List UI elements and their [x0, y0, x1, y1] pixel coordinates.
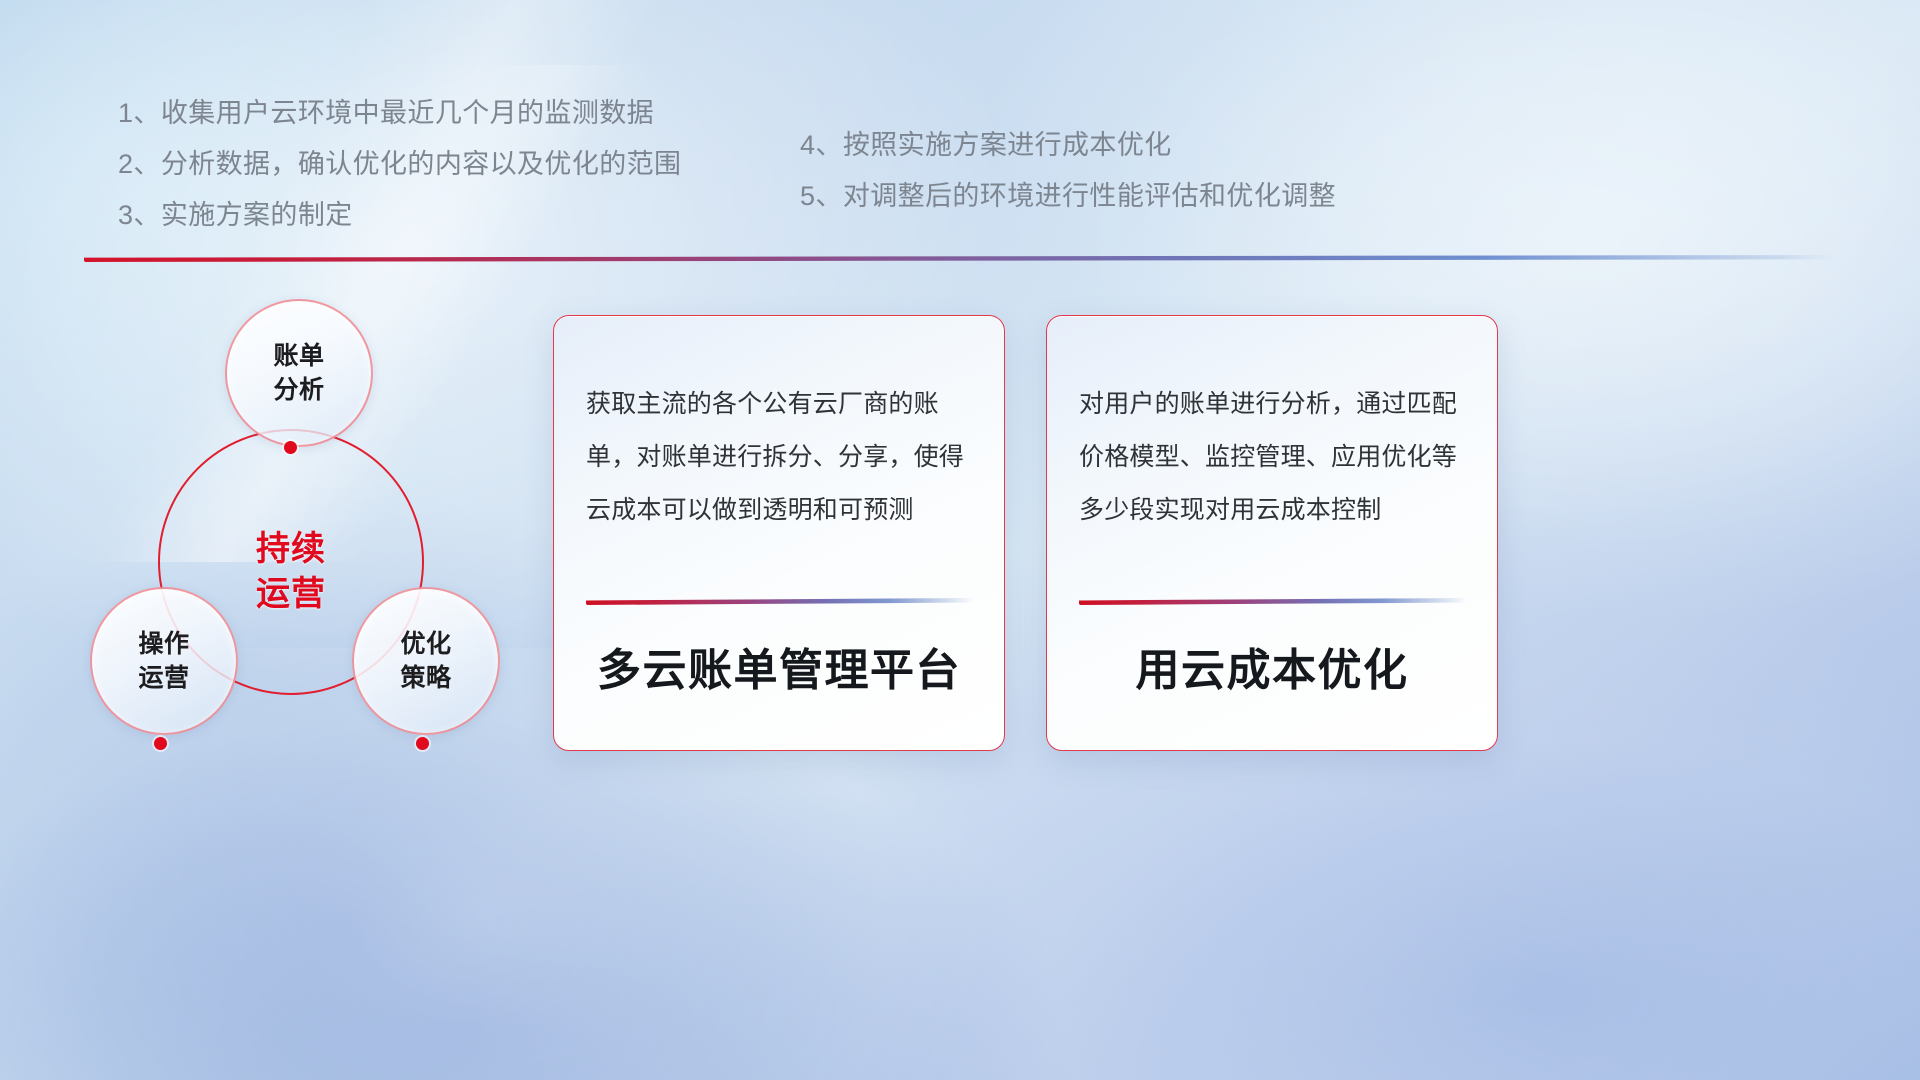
step-item-3: 3、实施方案的制定	[118, 190, 681, 241]
venn-bubble-right-line-1: 优化	[354, 627, 498, 661]
venn-bubble-right-line-2: 策略	[354, 661, 498, 695]
venn-node-left-icon	[154, 737, 167, 750]
card-1-divider	[586, 598, 974, 605]
venn-diagram: 持续 运营 账单 分析 操作 运营 优化 策略	[80, 285, 540, 775]
steps-section: 1、收集用户云环境中最近几个月的监测数据 2、分析数据，确认优化的内容以及优化的…	[0, 0, 1920, 250]
venn-bubble-operations[interactable]: 操作 运营	[90, 587, 238, 735]
card-2-title: 用云成本优化	[1047, 634, 1497, 698]
step-item-2: 2、分析数据，确认优化的内容以及优化的范围	[118, 139, 681, 190]
card-1-body: 获取主流的各个公有云厂商的账单，对账单进行拆分、分享，使得云成本可以做到透明和可…	[586, 378, 982, 537]
venn-bubble-left-line-2: 运营	[92, 661, 236, 695]
venn-node-right-icon	[416, 737, 429, 750]
venn-bubble-right-label: 优化 策略	[354, 627, 498, 695]
steps-right-column: 4、按照实施方案进行成本优化 5、对调整后的环境进行性能评估和优化调整	[800, 120, 1336, 222]
step-item-4: 4、按照实施方案进行成本优化	[800, 120, 1336, 171]
venn-bubble-left-line-1: 操作	[92, 627, 236, 661]
card-2-divider	[1079, 598, 1467, 605]
venn-bubble-top-line-2: 分析	[227, 373, 371, 407]
steps-left-column: 1、收集用户云环境中最近几个月的监测数据 2、分析数据，确认优化的内容以及优化的…	[118, 88, 681, 241]
venn-bubble-left-label: 操作 运营	[92, 627, 236, 695]
venn-node-top-icon	[284, 441, 297, 454]
step-item-5: 5、对调整后的环境进行性能评估和优化调整	[800, 171, 1336, 222]
card-1-title: 多云账单管理平台	[554, 634, 1004, 698]
step-item-1: 1、收集用户云环境中最近几个月的监测数据	[118, 88, 681, 139]
venn-bubble-bill-analysis[interactable]: 账单 分析	[225, 299, 373, 447]
venn-bubble-optimization-strategy[interactable]: 优化 策略	[352, 587, 500, 735]
card-2-body: 对用户的账单进行分析，通过匹配价格模型、监控管理、应用优化等多少段实现对用云成本…	[1079, 378, 1475, 537]
venn-center-line-1: 持续	[158, 527, 424, 572]
venn-bubble-top-label: 账单 分析	[227, 339, 371, 407]
card-cloud-cost-optimization[interactable]: 对用户的账单进行分析，通过匹配价格模型、监控管理、应用优化等多少段实现对用云成本…	[1046, 315, 1498, 751]
card-multi-cloud-billing-platform[interactable]: 获取主流的各个公有云厂商的账单，对账单进行拆分、分享，使得云成本可以做到透明和可…	[553, 315, 1005, 751]
venn-bubble-top-line-1: 账单	[227, 339, 371, 373]
